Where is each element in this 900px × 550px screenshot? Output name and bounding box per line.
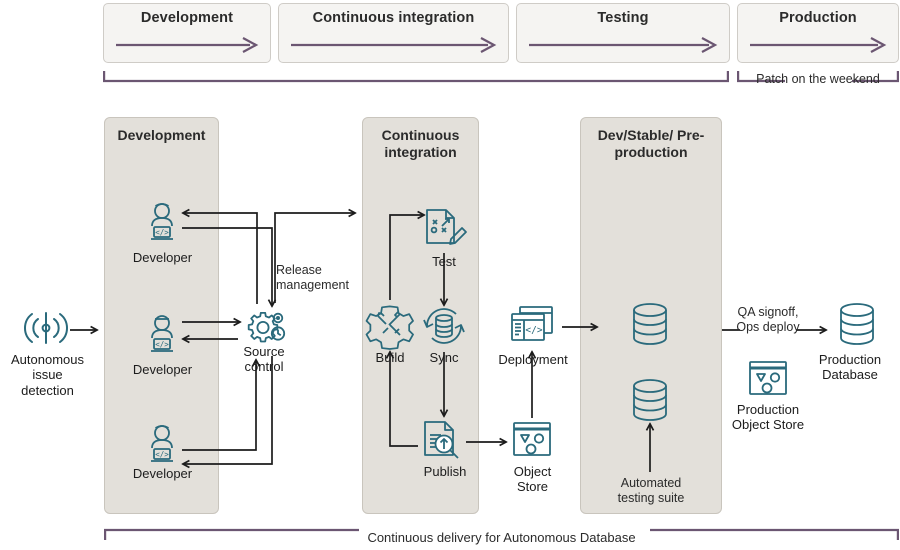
phase-box-production: Production (737, 3, 899, 63)
phase-label-production: Production (738, 10, 898, 26)
svg-text:</>: </> (155, 228, 169, 237)
node-label-deployment: Deployment (483, 352, 583, 367)
node-label-object-store: Object Store (495, 464, 570, 495)
node-label-developer-1: Developer (110, 250, 215, 265)
lane-title-development: Development (105, 127, 218, 144)
footer-label: Continuous delivery for Autonomous Datab… (104, 530, 899, 546)
object-store-icon (509, 419, 555, 461)
node-label-test: Test (412, 254, 476, 269)
signal-wave-icon (20, 308, 72, 348)
phase-label-development: Development (104, 10, 270, 26)
right-arrow-icon (748, 36, 888, 56)
diagram-canvas: Development Continuous integration Testi… (0, 0, 900, 550)
node-label-publish: Publish (410, 464, 480, 479)
right-arrow-icon (289, 36, 498, 56)
phase-box-testing: Testing (516, 3, 730, 63)
object-store-icon (745, 358, 791, 400)
node-label-production-object-store: Production Object Store (710, 402, 826, 433)
node-label-production-database: Production Database (800, 352, 900, 383)
developer-icon: </> (143, 200, 181, 242)
sync-database-icon (421, 303, 467, 349)
phase-label-continuous-integration: Continuous integration (279, 10, 508, 26)
node-label-developer-3: Developer (110, 466, 215, 481)
bracket-dev-to-testing (103, 70, 729, 84)
phase-box-development: Development (103, 3, 271, 63)
database-icon (627, 376, 673, 426)
svg-text:</>: </> (525, 325, 542, 336)
deployment-window-icon: </> (508, 303, 558, 347)
test-document-icon (422, 205, 468, 251)
phase-label-testing: Testing (517, 10, 729, 26)
node-label-developer-2: Developer (110, 362, 215, 377)
bracket-label-patch-weekend: Patch on the weekend (737, 72, 899, 87)
edge-label-release-management: Release management (276, 263, 362, 293)
entry-label-autonomous-issue-detection: Autonomous issue detection (0, 352, 95, 398)
node-label-sync: Sync (412, 350, 476, 365)
annotation-automated-testing-suite: Automated testing suite (588, 476, 714, 506)
right-arrow-icon (527, 36, 719, 56)
lane-title-continuous-integration: Continuous integration (363, 127, 478, 161)
developer-icon: </> (143, 312, 181, 354)
svg-text:</>: </> (155, 450, 169, 459)
developer-icon: </> (143, 422, 181, 464)
publish-document-icon (420, 418, 466, 464)
right-arrow-icon (114, 36, 260, 56)
lane-title-pre-production: Dev/Stable/ Pre-production (581, 127, 721, 161)
svg-text:</>: </> (155, 340, 169, 349)
phase-box-continuous-integration: Continuous integration (278, 3, 509, 63)
build-gear-icon (367, 302, 413, 348)
node-label-source-control: Source control (228, 344, 300, 375)
edge-label-qa-signoff: QA signoff, Ops deploy (724, 305, 812, 335)
database-icon (834, 300, 880, 350)
database-icon (627, 300, 673, 350)
